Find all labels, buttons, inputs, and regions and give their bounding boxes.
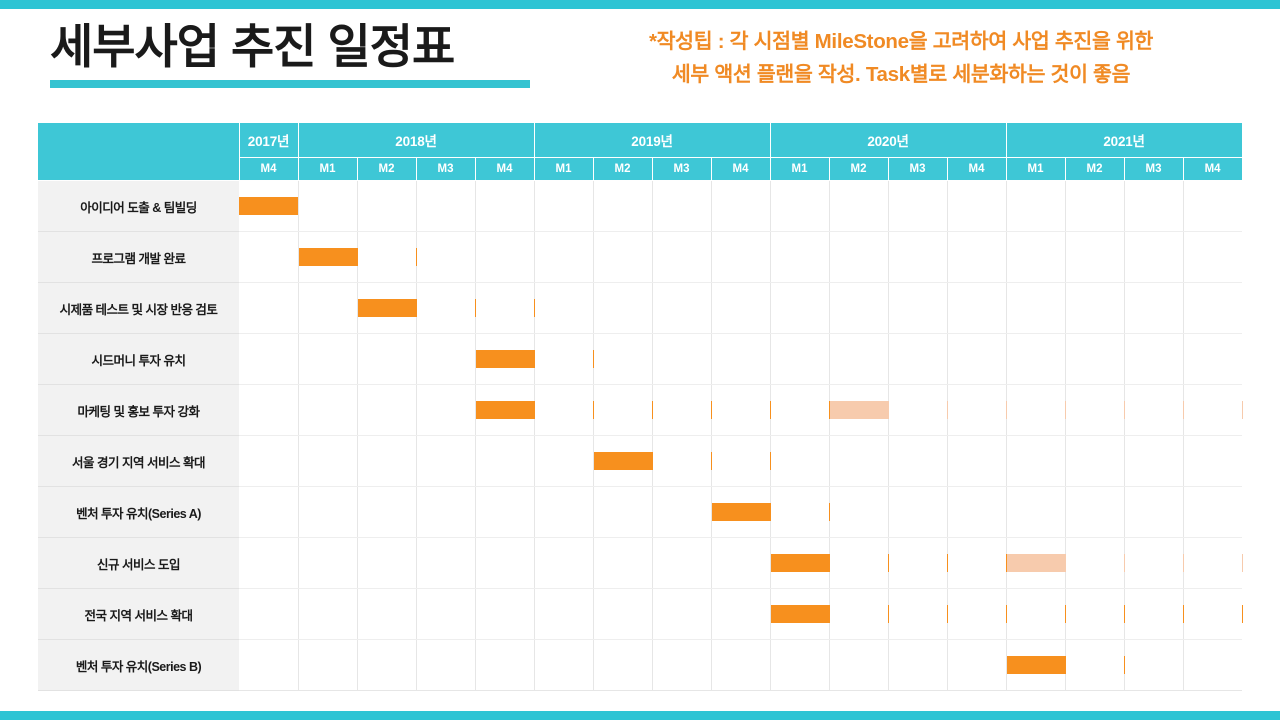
year-header-2019년: 2019년 <box>534 123 770 158</box>
timeline-cell <box>593 589 652 640</box>
timeline-cell <box>239 283 298 334</box>
top-accent-bar <box>0 0 1280 9</box>
timeline-cell <box>711 385 770 436</box>
year-header-2020년: 2020년 <box>770 123 1006 158</box>
timeline-cell <box>1006 640 1065 691</box>
timeline-cell <box>593 487 652 538</box>
table-row: 벤처 투자 유치(Series A) <box>38 487 1242 538</box>
timeline-cell <box>298 589 357 640</box>
task-label: 아이디어 도출 & 팀빌딩 <box>38 181 239 232</box>
timeline-cell <box>593 334 652 385</box>
timeline-cell <box>298 538 357 589</box>
timeline-cell <box>1124 283 1183 334</box>
timeline-cell <box>829 385 888 436</box>
month-header-cell: M1 <box>770 158 829 181</box>
timeline-cell <box>829 589 888 640</box>
task-label: 신규 서비스 도입 <box>38 538 239 589</box>
timeline-cell <box>947 436 1006 487</box>
timeline-cell <box>593 181 652 232</box>
timeline-cell <box>298 487 357 538</box>
timeline-cell <box>239 232 298 283</box>
timeline-cell <box>888 334 947 385</box>
timeline-cell <box>1124 589 1183 640</box>
timeline-cell <box>357 436 416 487</box>
timeline-cell <box>534 487 593 538</box>
timeline-cell <box>534 436 593 487</box>
timeline-cell <box>416 232 475 283</box>
month-header-cell: M3 <box>888 158 947 181</box>
timeline-cell <box>239 334 298 385</box>
timeline-cell <box>1006 334 1065 385</box>
table-row: 벤처 투자 유치(Series B) <box>38 640 1242 691</box>
timeline-cell <box>1183 487 1242 538</box>
month-header-cell: M1 <box>534 158 593 181</box>
timeline-cell <box>475 487 534 538</box>
timeline-cell <box>829 334 888 385</box>
timeline-cell <box>1006 283 1065 334</box>
timeline-cell <box>888 487 947 538</box>
timeline-cell <box>1124 181 1183 232</box>
timeline-cell <box>593 640 652 691</box>
timeline-cell <box>298 334 357 385</box>
month-header-cell: M2 <box>829 158 888 181</box>
timeline-cell <box>416 538 475 589</box>
timeline-cell <box>357 283 416 334</box>
timeline-cell <box>1065 334 1124 385</box>
timeline-cell <box>1065 640 1124 691</box>
timeline-cell <box>947 640 1006 691</box>
month-header-cell: M1 <box>298 158 357 181</box>
gantt-chart-table: 2017년2018년2019년2020년2021년 M4M1M2M3M4M1M2… <box>38 123 1243 691</box>
task-label: 시제품 테스트 및 시장 반응 검토 <box>38 283 239 334</box>
timeline-cell <box>534 283 593 334</box>
timeline-cell <box>1006 232 1065 283</box>
timeline-cell <box>652 385 711 436</box>
timeline-cell <box>357 181 416 232</box>
timeline-cell <box>534 589 593 640</box>
task-label: 벤처 투자 유치(Series A) <box>38 487 239 538</box>
bottom-accent-bar <box>0 711 1280 720</box>
timeline-cell <box>1006 589 1065 640</box>
timeline-cell <box>416 283 475 334</box>
timeline-cell <box>947 232 1006 283</box>
timeline-cell <box>1065 538 1124 589</box>
timeline-cell <box>475 436 534 487</box>
month-header-cell: M2 <box>593 158 652 181</box>
timeline-cell <box>652 538 711 589</box>
timeline-cell <box>829 436 888 487</box>
month-header-cell: M4 <box>711 158 770 181</box>
timeline-cell <box>475 334 534 385</box>
task-label: 프로그램 개발 완료 <box>38 232 239 283</box>
table-row: 서울 경기 지역 서비스 확대 <box>38 436 1242 487</box>
timeline-cell <box>947 487 1006 538</box>
timeline-cell <box>770 640 829 691</box>
timeline-cell <box>829 181 888 232</box>
timeline-cell <box>416 436 475 487</box>
timeline-cell <box>1006 181 1065 232</box>
month-header-cell: M3 <box>416 158 475 181</box>
month-header-cell: M4 <box>239 158 298 181</box>
timeline-cell <box>1006 385 1065 436</box>
timeline-cell <box>1065 283 1124 334</box>
timeline-cell <box>1124 640 1183 691</box>
year-header-row: 2017년2018년2019년2020년2021년 <box>38 123 1242 158</box>
timeline-cell <box>888 283 947 334</box>
month-header-cell: M2 <box>357 158 416 181</box>
timeline-cell <box>711 640 770 691</box>
month-header-cell: M4 <box>1183 158 1242 181</box>
timeline-cell <box>298 232 357 283</box>
timeline-cell <box>652 640 711 691</box>
month-header-cell: M4 <box>475 158 534 181</box>
timeline-cell <box>888 232 947 283</box>
table-row: 아이디어 도출 & 팀빌딩 <box>38 181 1242 232</box>
timeline-cell <box>770 232 829 283</box>
task-label: 벤처 투자 유치(Series B) <box>38 640 239 691</box>
month-header-cell: M2 <box>1065 158 1124 181</box>
timeline-cell <box>239 538 298 589</box>
subtitle-block: *작성팁 : 각 시점별 MileStone을 고려하여 사업 추진을 위한 세… <box>556 25 1246 91</box>
year-header-2021년: 2021년 <box>1006 123 1242 158</box>
timeline-cell <box>475 538 534 589</box>
timeline-cell <box>357 334 416 385</box>
table-row: 프로그램 개발 완료 <box>38 232 1242 283</box>
timeline-cell <box>298 640 357 691</box>
timeline-cell <box>711 487 770 538</box>
timeline-cell <box>711 334 770 385</box>
timeline-cell <box>1183 385 1242 436</box>
gantt-bar[interactable] <box>239 197 298 215</box>
timeline-cell <box>829 232 888 283</box>
month-header-cell: M4 <box>947 158 1006 181</box>
timeline-cell <box>711 283 770 334</box>
timeline-cell <box>711 181 770 232</box>
timeline-cell <box>1183 589 1242 640</box>
timeline-cell <box>947 538 1006 589</box>
timeline-cell <box>593 538 652 589</box>
gantt-header: 2017년2018년2019년2020년2021년 M4M1M2M3M4M1M2… <box>38 123 1242 181</box>
timeline-cell <box>711 538 770 589</box>
timeline-cell <box>534 334 593 385</box>
timeline-cell <box>947 283 1006 334</box>
task-label: 시드머니 투자 유치 <box>38 334 239 385</box>
timeline-cell <box>1124 538 1183 589</box>
table-row: 신규 서비스 도입 <box>38 538 1242 589</box>
timeline-cell <box>357 640 416 691</box>
timeline-cell <box>593 436 652 487</box>
timeline-cell <box>416 334 475 385</box>
gantt-body: 아이디어 도출 & 팀빌딩프로그램 개발 완료시제품 테스트 및 시장 반응 검… <box>38 181 1242 691</box>
timeline-cell <box>534 181 593 232</box>
timeline-cell <box>239 640 298 691</box>
timeline-cell <box>711 436 770 487</box>
timeline-cell <box>298 283 357 334</box>
timeline-cell <box>1124 385 1183 436</box>
timeline-cell <box>357 385 416 436</box>
timeline-cell <box>357 487 416 538</box>
timeline-cell <box>1124 436 1183 487</box>
timeline-cell <box>593 232 652 283</box>
timeline-cell <box>534 538 593 589</box>
page-header: 세부사업 추진 일정표 *작성팁 : 각 시점별 MileStone을 고려하여… <box>0 9 1280 121</box>
timeline-cell <box>888 538 947 589</box>
timeline-cell <box>1065 436 1124 487</box>
year-header-2018년: 2018년 <box>298 123 534 158</box>
table-row: 전국 지역 서비스 확대 <box>38 589 1242 640</box>
timeline-cell <box>1065 385 1124 436</box>
timeline-cell <box>652 181 711 232</box>
timeline-cell <box>416 385 475 436</box>
timeline-cell <box>770 538 829 589</box>
timeline-cell <box>888 181 947 232</box>
timeline-cell <box>1065 487 1124 538</box>
timeline-cell <box>888 436 947 487</box>
timeline-cell <box>888 589 947 640</box>
timeline-cell <box>298 181 357 232</box>
timeline-cell <box>711 589 770 640</box>
month-header-cell: M1 <box>1006 158 1065 181</box>
timeline-cell <box>652 436 711 487</box>
timeline-cell <box>1183 283 1242 334</box>
table-row: 마케팅 및 홍보 투자 강화 <box>38 385 1242 436</box>
timeline-cell <box>1065 181 1124 232</box>
timeline-cell <box>1065 232 1124 283</box>
timeline-cell <box>475 283 534 334</box>
timeline-cell <box>652 334 711 385</box>
timeline-cell <box>475 640 534 691</box>
timeline-cell <box>829 283 888 334</box>
timeline-cell <box>1006 538 1065 589</box>
month-header-cell: M3 <box>1124 158 1183 181</box>
timeline-cell <box>652 232 711 283</box>
timeline-cell <box>652 487 711 538</box>
timeline-cell <box>1065 589 1124 640</box>
timeline-cell <box>475 181 534 232</box>
timeline-cell <box>534 232 593 283</box>
timeline-cell <box>770 487 829 538</box>
task-label: 전국 지역 서비스 확대 <box>38 589 239 640</box>
timeline-cell <box>1183 334 1242 385</box>
timeline-cell <box>1124 232 1183 283</box>
timeline-cell <box>829 487 888 538</box>
timeline-cell <box>888 385 947 436</box>
timeline-cell <box>357 538 416 589</box>
timeline-cell <box>1124 334 1183 385</box>
timeline-cell <box>357 589 416 640</box>
timeline-cell <box>947 181 1006 232</box>
subtitle-line-1: *작성팁 : 각 시점별 MileStone을 고려하여 사업 추진을 위한 <box>556 25 1246 58</box>
timeline-cell <box>1183 232 1242 283</box>
timeline-cell <box>947 334 1006 385</box>
timeline-cell <box>475 589 534 640</box>
timeline-cell <box>239 487 298 538</box>
timeline-cell <box>770 334 829 385</box>
task-label: 마케팅 및 홍보 투자 강화 <box>38 385 239 436</box>
timeline-cell <box>475 385 534 436</box>
timeline-cell <box>416 487 475 538</box>
title-underline <box>50 80 530 88</box>
timeline-cell <box>593 283 652 334</box>
timeline-cell <box>1183 640 1242 691</box>
timeline-cell <box>534 385 593 436</box>
timeline-cell <box>239 589 298 640</box>
timeline-cell <box>1006 436 1065 487</box>
timeline-cell <box>416 181 475 232</box>
subtitle-line-2: 세부 액션 플랜을 작성. Task별로 세분화하는 것이 좋음 <box>556 58 1246 91</box>
timeline-cell <box>947 589 1006 640</box>
timeline-cell <box>357 232 416 283</box>
timeline-cell <box>888 640 947 691</box>
page-title: 세부사업 추진 일정표 <box>50 19 535 74</box>
timeline-cell <box>770 385 829 436</box>
timeline-cell <box>1006 487 1065 538</box>
timeline-cell <box>534 640 593 691</box>
timeline-cell <box>1183 181 1242 232</box>
timeline-cell <box>652 589 711 640</box>
month-header-cell: M3 <box>652 158 711 181</box>
timeline-cell <box>416 589 475 640</box>
timeline-cell <box>770 589 829 640</box>
timeline-cell <box>947 385 1006 436</box>
timeline-corner-cell <box>38 123 239 181</box>
timeline-cell <box>1124 487 1183 538</box>
timeline-cell <box>239 385 298 436</box>
title-block: 세부사업 추진 일정표 <box>50 19 535 88</box>
timeline-cell <box>770 283 829 334</box>
table-row: 시드머니 투자 유치 <box>38 334 1242 385</box>
task-label: 서울 경기 지역 서비스 확대 <box>38 436 239 487</box>
timeline-cell <box>1183 436 1242 487</box>
timeline-cell <box>239 436 298 487</box>
timeline-cell <box>829 640 888 691</box>
timeline-cell <box>298 436 357 487</box>
timeline-cell <box>829 538 888 589</box>
timeline-cell <box>770 436 829 487</box>
timeline-cell <box>711 232 770 283</box>
timeline-cell <box>652 283 711 334</box>
timeline-cell <box>416 640 475 691</box>
timeline-cell <box>770 181 829 232</box>
timeline-cell <box>298 385 357 436</box>
timeline-cell <box>1183 538 1242 589</box>
timeline-cell <box>475 232 534 283</box>
timeline-cell <box>593 385 652 436</box>
table-row: 시제품 테스트 및 시장 반응 검토 <box>38 283 1242 334</box>
timeline-cell <box>239 181 298 232</box>
year-header-2017년: 2017년 <box>239 123 298 158</box>
